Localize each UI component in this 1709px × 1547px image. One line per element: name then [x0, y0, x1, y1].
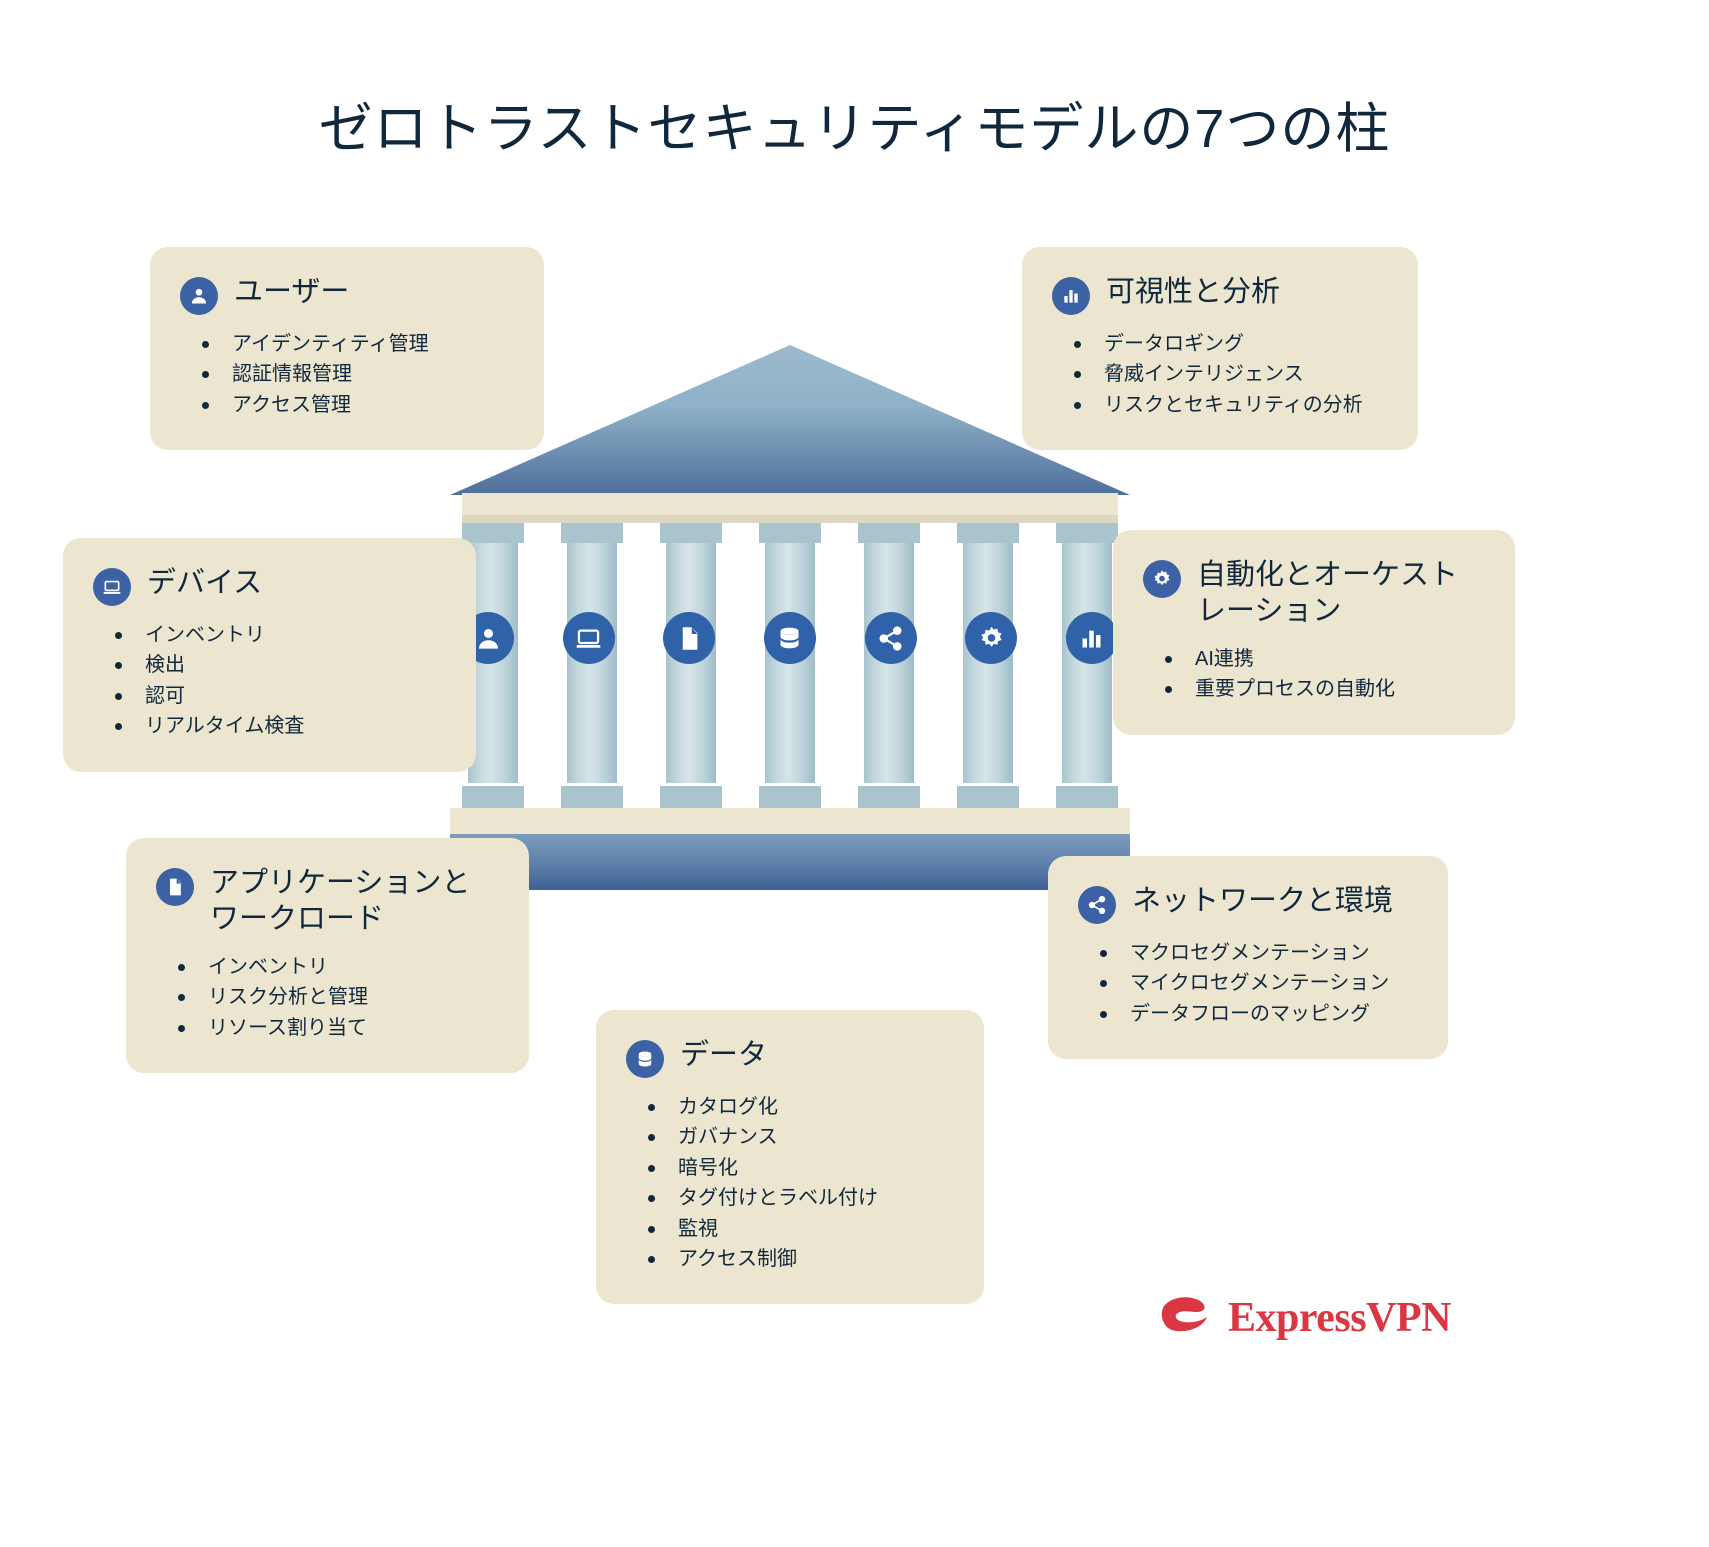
card-item-list: カタログ化 ガバナンス 暗号化 タグ付けとラベル付け 監視 アクセス制御: [626, 1092, 954, 1274]
card-item-list: インベントリ リスク分析と管理 リソース割り当て: [156, 952, 499, 1043]
laptop-icon: [93, 568, 131, 606]
share-nodes-icon: [1078, 886, 1116, 924]
list-item: アクセス制御: [644, 1244, 954, 1274]
card-item-list: インベントリ 検出 認可 リアルタイム検査: [93, 620, 446, 742]
database-icon: [626, 1040, 664, 1078]
list-item: タグ付けとラベル付け: [644, 1183, 954, 1213]
card-data: データ カタログ化 ガバナンス 暗号化 タグ付けとラベル付け 監視 アクセス制御: [596, 1010, 984, 1304]
temple-stylobate-top: [450, 808, 1130, 836]
list-item: リソース割り当て: [174, 1013, 499, 1043]
list-item: AI連携: [1161, 644, 1485, 674]
card-applications-workloads: アプリケーションとワークロード インベントリ リスク分析と管理 リソース割り当て: [126, 838, 529, 1073]
card-title: ユーザー: [234, 273, 349, 311]
card-header: ユーザー: [180, 273, 514, 315]
list-item: 重要プロセスの自動化: [1161, 674, 1485, 704]
list-item: インベントリ: [174, 952, 499, 982]
card-header: データ: [626, 1036, 954, 1078]
list-item: リスクとセキュリティの分析: [1070, 390, 1388, 420]
gear-icon: [1143, 560, 1181, 598]
card-devices: デバイス インベントリ 検出 認可 リアルタイム検査: [63, 538, 476, 772]
list-item: リアルタイム検査: [111, 711, 446, 741]
list-item: リスク分析と管理: [174, 982, 499, 1012]
expressvpn-wordmark: ExpressVPN: [1228, 1294, 1451, 1342]
expressvpn-logo-icon: [1160, 1292, 1218, 1344]
list-item: データロギング: [1070, 329, 1388, 359]
list-item: データフローのマッピング: [1096, 999, 1418, 1029]
bar-chart-icon: [1052, 277, 1090, 315]
document-icon: [156, 868, 194, 906]
pillar-bar-chart-icon: [1066, 612, 1118, 664]
list-item: マイクロセグメンテーション: [1096, 968, 1418, 998]
card-header: デバイス: [93, 564, 446, 606]
list-item: 認可: [111, 681, 446, 711]
card-title: アプリケーションとワークロード: [210, 864, 499, 938]
list-item: 検出: [111, 650, 446, 680]
pillar-share-nodes-icon: [865, 612, 917, 664]
pillar-laptop-icon: [563, 612, 615, 664]
list-item: 認証情報管理: [198, 359, 514, 389]
pillar-icon-row: [462, 607, 1118, 669]
card-item-list: マクロセグメンテーション マイクロセグメンテーション データフローのマッピング: [1078, 938, 1418, 1029]
card-title: ネットワークと環境: [1132, 882, 1393, 920]
card-header: ネットワークと環境: [1078, 882, 1418, 924]
card-title: デバイス: [147, 564, 262, 602]
card-automation: 自動化とオーケストレーション AI連携 重要プロセスの自動化: [1113, 530, 1515, 735]
expressvpn-logo: ExpressVPN: [1160, 1292, 1451, 1344]
pillar-gear-icon: [965, 612, 1017, 664]
page-title: ゼロトラストセキュリティモデルの7つの柱: [0, 96, 1709, 164]
list-item: 監視: [644, 1214, 954, 1244]
list-item: インベントリ: [111, 620, 446, 650]
temple-entablature-shadow: [462, 515, 1118, 523]
list-item: 脅威インテリジェンス: [1070, 359, 1388, 389]
pillar-database-icon: [764, 612, 816, 664]
card-visibility: 可視性と分析 データロギング 脅威インテリジェンス リスクとセキュリティの分析: [1022, 247, 1418, 450]
card-title: データ: [680, 1036, 767, 1074]
list-item: ガバナンス: [644, 1122, 954, 1152]
card-item-list: AI連携 重要プロセスの自動化: [1143, 644, 1485, 705]
card-item-list: データロギング 脅威インテリジェンス リスクとセキュリティの分析: [1052, 329, 1388, 420]
card-header: 自動化とオーケストレーション: [1143, 556, 1485, 630]
list-item: カタログ化: [644, 1092, 954, 1122]
list-item: 暗号化: [644, 1153, 954, 1183]
card-title: 自動化とオーケストレーション: [1197, 556, 1485, 630]
list-item: アクセス管理: [198, 390, 514, 420]
card-user: ユーザー アイデンティティ管理 認証情報管理 アクセス管理: [150, 247, 544, 450]
pillar-document-icon: [663, 612, 715, 664]
user-icon: [180, 277, 218, 315]
card-item-list: アイデンティティ管理 認証情報管理 アクセス管理: [180, 329, 514, 420]
card-title: 可視性と分析: [1106, 273, 1280, 311]
card-network-environment: ネットワークと環境 マクロセグメンテーション マイクロセグメンテーション データ…: [1048, 856, 1448, 1059]
temple-stylobate-base: [450, 834, 1130, 890]
list-item: マクロセグメンテーション: [1096, 938, 1418, 968]
list-item: アイデンティティ管理: [198, 329, 514, 359]
card-header: アプリケーションとワークロード: [156, 864, 499, 938]
card-header: 可視性と分析: [1052, 273, 1388, 315]
